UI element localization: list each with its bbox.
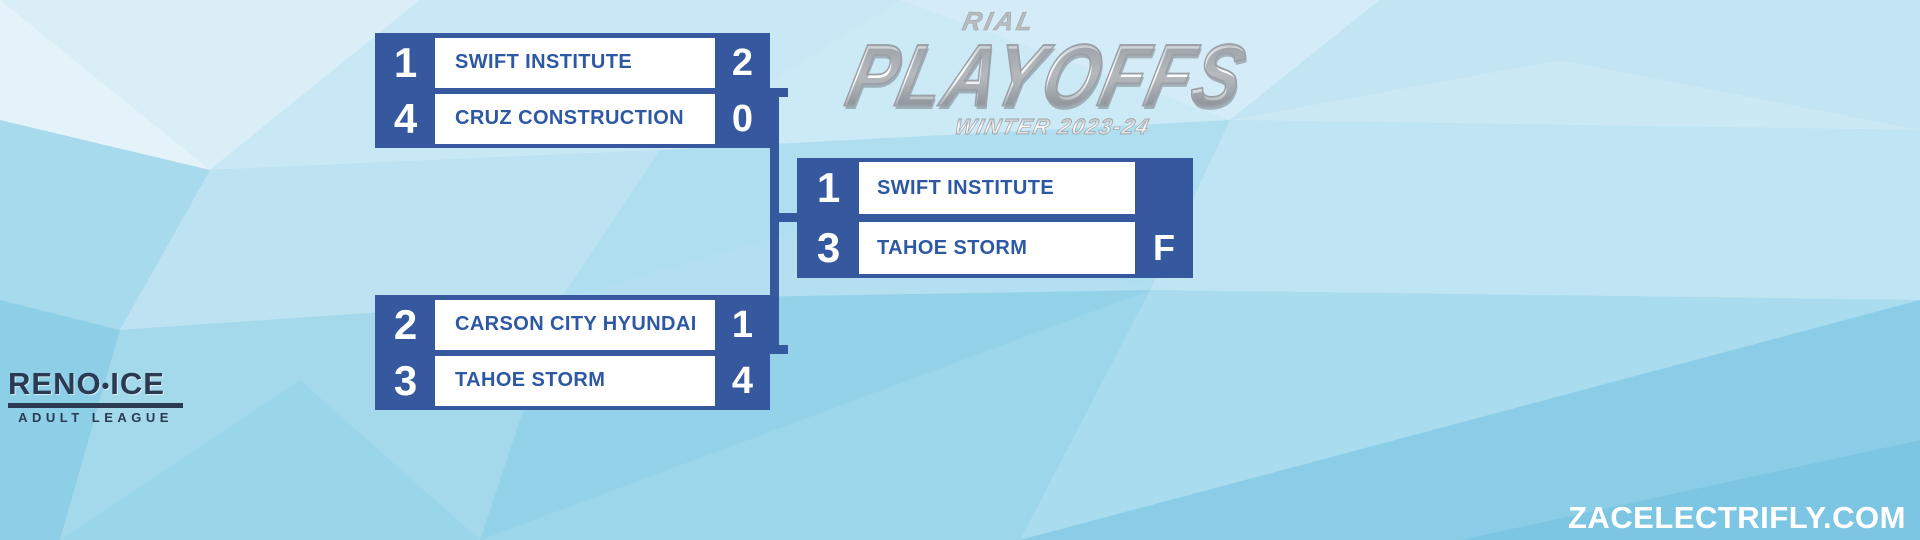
team-name: TAHOE STORM xyxy=(455,369,605,392)
seed-number: 3 xyxy=(375,356,435,406)
team-score: 2 xyxy=(715,38,770,88)
seed-number: 4 xyxy=(375,94,435,144)
logo-name-right: ICE xyxy=(110,366,165,401)
match-row[interactable]: 1 SWIFT INSTITUTE 2 xyxy=(375,38,770,88)
connector-bottom-horizontal xyxy=(768,345,788,354)
team-name: CARSON CITY HYUNDAI xyxy=(455,313,697,336)
team-score: 0 xyxy=(715,94,770,144)
seed-number: 1 xyxy=(375,38,435,88)
team-plate: SWIFT INSTITUTE xyxy=(859,162,1135,214)
match-row[interactable]: 2 CARSON CITY HYUNDAI 1 xyxy=(375,300,770,350)
final-result-marker: F xyxy=(1135,222,1193,274)
logo-rule xyxy=(8,403,183,408)
seed-number: 2 xyxy=(375,300,435,350)
match-row[interactable]: 1 SWIFT INSTITUTE xyxy=(797,162,1193,214)
bracket-graphic: 1 SWIFT INSTITUTE 2 4 CRUZ CONSTRUCTION … xyxy=(0,0,1920,540)
team-plate: CRUZ CONSTRUCTION xyxy=(435,94,715,144)
site-watermark: ZACELECTRIFLY.COM xyxy=(1568,500,1906,536)
match-semifinal-1[interactable]: 1 SWIFT INSTITUTE 2 4 CRUZ CONSTRUCTION … xyxy=(375,33,770,148)
match-row[interactable]: 3 TAHOE STORM F xyxy=(797,222,1193,274)
team-plate: TAHOE STORM xyxy=(859,222,1135,274)
team-name: TAHOE STORM xyxy=(877,237,1027,260)
team-plate: TAHOE STORM xyxy=(435,356,715,406)
team-score: 1 xyxy=(715,300,770,350)
reno-ice-logo: RENO•ICE ADULT LEAGUE xyxy=(8,368,183,438)
match-final[interactable]: 1 SWIFT INSTITUTE 3 TAHOE STORM F xyxy=(797,158,1193,278)
match-row[interactable]: 4 CRUZ CONSTRUCTION 0 xyxy=(375,94,770,144)
team-name: SWIFT INSTITUTE xyxy=(455,51,632,74)
team-plate: SWIFT INSTITUTE xyxy=(435,38,715,88)
logo-wordmark: RENO•ICE xyxy=(8,368,183,399)
match-row[interactable]: 3 TAHOE STORM 4 xyxy=(375,356,770,406)
logo-separator-dot: • xyxy=(102,373,111,398)
team-score xyxy=(1135,162,1193,214)
match-semifinal-2[interactable]: 2 CARSON CITY HYUNDAI 1 3 TAHOE STORM 4 xyxy=(375,295,770,410)
team-name: SWIFT INSTITUTE xyxy=(877,177,1054,200)
logo-name-left: RENO xyxy=(8,366,102,401)
logo-subtitle: ADULT LEAGUE xyxy=(8,411,183,424)
seed-number: 1 xyxy=(797,162,859,214)
team-score: 4 xyxy=(715,356,770,406)
seed-number: 3 xyxy=(797,222,859,274)
connector-to-final xyxy=(770,213,800,222)
team-plate: CARSON CITY HYUNDAI xyxy=(435,300,715,350)
team-name: CRUZ CONSTRUCTION xyxy=(455,107,684,130)
